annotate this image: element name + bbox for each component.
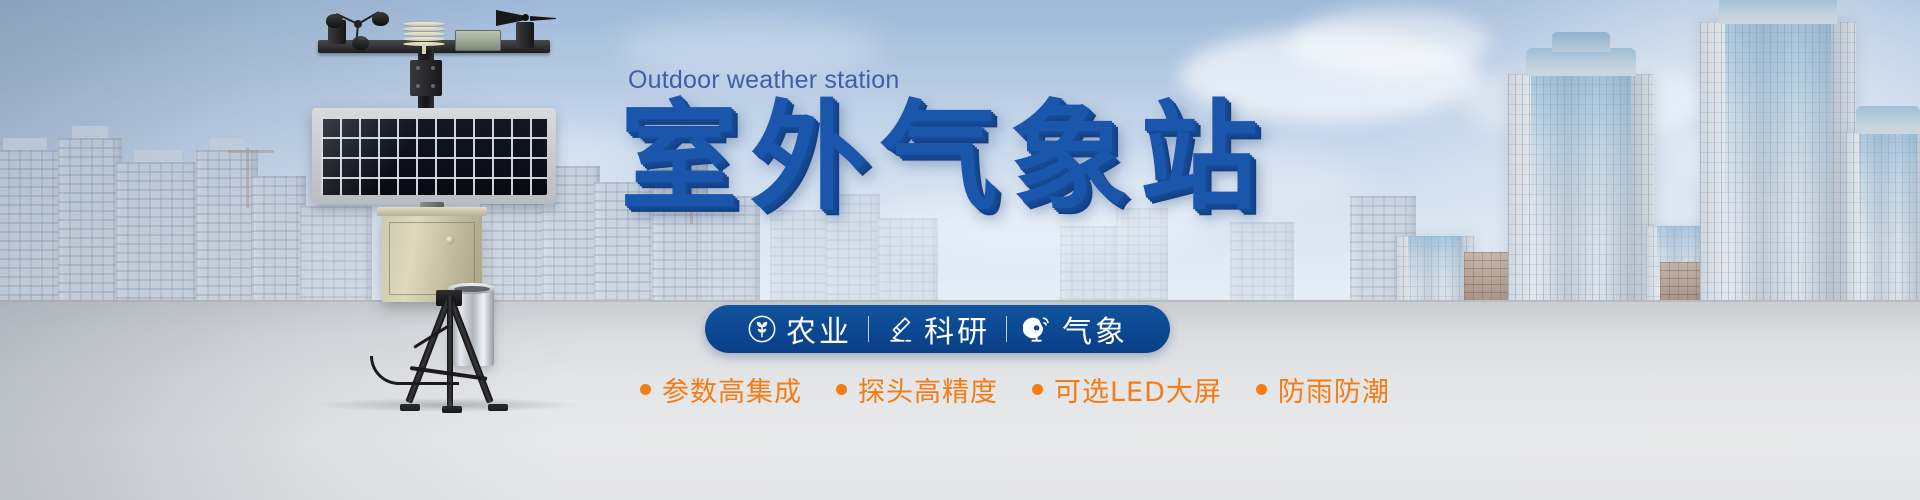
tag-agriculture[interactable]: 农业: [731, 307, 868, 351]
page-title: 室外气象站: [620, 98, 1270, 216]
feature-item: 参数高集成: [640, 370, 802, 409]
banner-root: Outdoor weather station 室外气象站 农业: [0, 0, 1920, 500]
bullet-dot-icon: [1256, 384, 1267, 395]
tag-meteorology[interactable]: 气象: [1007, 307, 1144, 351]
tripod: [348, 296, 548, 410]
feature-item: 探头高精度: [836, 370, 998, 409]
radiation-shield-icon: [403, 22, 445, 48]
tag-label: 农业: [786, 307, 852, 351]
solar-panel: [312, 108, 556, 204]
mast-clamp: [410, 60, 442, 96]
copy-block: Outdoor weather station 室外气象站 农业: [620, 58, 1880, 458]
feature-label: 探头高精度: [858, 370, 998, 409]
feature-item: 可选LED大屏: [1032, 370, 1222, 409]
plant-circle-icon: [747, 314, 777, 344]
feature-label: 参数高集成: [662, 370, 802, 409]
feature-item: 防雨防潮: [1256, 370, 1390, 409]
feature-label: 可选LED大屏: [1054, 370, 1222, 409]
data-logger-box: [455, 30, 501, 51]
feature-label: 防雨防潮: [1278, 370, 1390, 409]
product-shadow: [318, 398, 580, 412]
bullet-dot-icon: [836, 384, 847, 395]
microscope-icon: [885, 314, 915, 344]
cable: [370, 356, 459, 385]
bullet-dot-icon: [640, 384, 651, 395]
satellite-dish-icon: [1023, 314, 1053, 344]
wind-vane-icon: [496, 4, 558, 48]
feature-list: 参数高集成 探头高精度 可选LED大屏 防雨防潮: [640, 370, 1390, 409]
tag-research[interactable]: 科研: [869, 307, 1006, 351]
weather-station-product: [300, 0, 600, 410]
bullet-dot-icon: [1032, 384, 1043, 395]
anemometer-cups-icon: [326, 6, 390, 46]
tag-label: 气象: [1062, 307, 1128, 351]
application-tags-pill: 农业 科研: [705, 305, 1170, 353]
tag-label: 科研: [924, 307, 990, 351]
